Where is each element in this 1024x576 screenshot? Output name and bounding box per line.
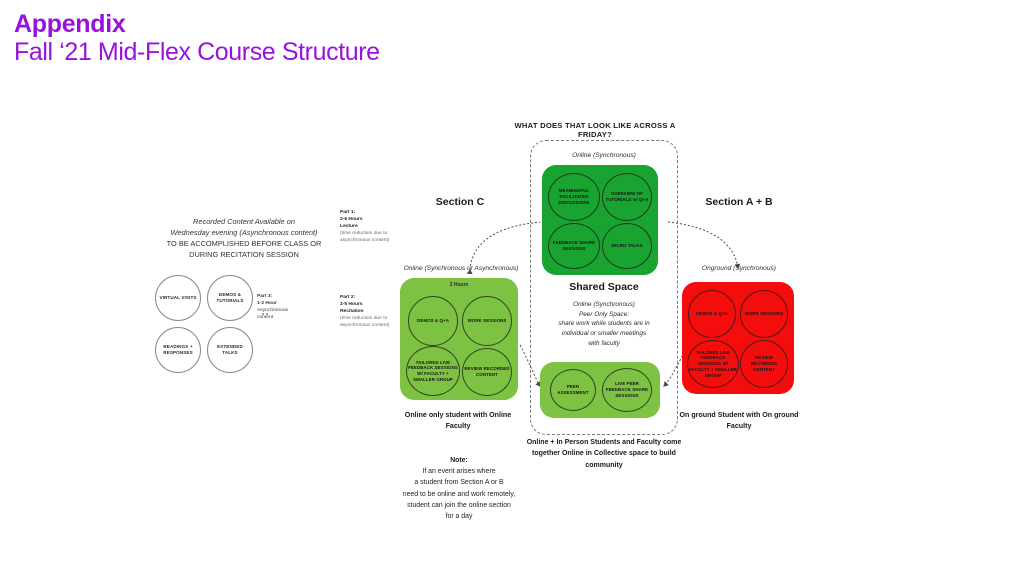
section-ab-caption: On ground Student with On ground Faculty [676, 410, 802, 432]
section-ab-box: DEMOS & Q+A WORK SESSIONS TAILORED LIVE … [682, 282, 794, 394]
shared-circle-peer-assessment: PEER ASSESSMENT [550, 369, 596, 411]
section-c-circle-demos-qa: DEMOS & Q+A [408, 296, 458, 346]
part-1-detail: (time reduction due to asynchronous cont… [340, 230, 390, 244]
section-c-circle-tailored-feedback: TAILORED LIVE FEEDBACK SESSIONS W/ FACUL… [406, 346, 460, 396]
slide-canvas: Appendix Fall ‘21 Mid-Flex Course Struct… [0, 0, 1024, 576]
note-line-5: for a day [446, 513, 473, 520]
shared-desc-line-3: share work while students are in [528, 319, 680, 329]
shared-space-description: Online (Synchronous) Peer Only Space: sh… [528, 300, 680, 349]
part-3-duration: 1-2 Hour [257, 301, 277, 306]
async-heading-line-1: Recorded Content Available on [148, 216, 340, 227]
note-line-1: If an event arises where [422, 468, 495, 475]
part-1-label: Part 1: [340, 209, 390, 216]
part-3-detail: Asynchronous content [257, 308, 288, 320]
section-ab-circle-work-sessions: WORK SESSIONS [740, 290, 788, 338]
title-main: Appendix [14, 10, 380, 38]
part-2-duration: 2-5 Hours [340, 301, 390, 308]
part-2-label: Part 2: [340, 294, 390, 301]
page-title: Appendix Fall ‘21 Mid-Flex Course Struct… [14, 10, 380, 68]
shared-space-title: Shared Space [530, 281, 678, 293]
note-line-2: a student from Section A or B [414, 479, 503, 486]
part-2-detail: (time reduction due to asynchronous cont… [340, 315, 390, 329]
section-ab-heading: Section A + B [678, 196, 800, 208]
section-ab-circle-review-content: REVIEW RECORDED CONTENT [740, 340, 788, 388]
async-heading-line-2: Wednesday evening (Asynchronous content) [148, 227, 340, 238]
part-2-block: Part 2: 2-5 Hours Recitation (time reduc… [340, 294, 390, 330]
note-line-4: student can join the online section [407, 502, 511, 509]
async-content-heading: Recorded Content Available on Wednesday … [148, 216, 340, 260]
part-2-kind: Recitation [340, 308, 390, 315]
section-c-circle-work-sessions: WORK SESSIONS [462, 296, 512, 346]
shared-circle-facilitated-discussions: MEANINGFUL FACILITATED DISCUSSIONS [548, 173, 600, 221]
part-1-kind: Lecture [340, 223, 390, 230]
part-3-note: Part 3: 1-2 Hour Asynchronous content [257, 293, 303, 321]
shared-space-caption: Online + In Person Students and Faculty … [518, 437, 690, 471]
section-c-heading: Section C [400, 196, 520, 208]
note-title: Note: [450, 457, 468, 464]
shared-desc-line-5: with faculty [528, 339, 680, 349]
section-c-mode-label: Online (Synchronous or Asynchronous) [390, 265, 532, 272]
shared-circle-feedback-share: FEEDBACK SHARE SESSIONS [548, 223, 600, 269]
note-line-3: need to be online and work remotely, [403, 491, 516, 498]
section-ab-circle-tailored-feedback: TAILORED LIVE FEEDBACK SESSIONS W/ FACUL… [687, 340, 739, 388]
async-circle-virtual-visits: VIRTUAL VISITS [155, 275, 201, 321]
part-3-label: Part 3: [257, 294, 272, 299]
section-ab-circle-demos-qa: DEMOS & Q+A [688, 290, 736, 338]
title-subtitle: Fall ‘21 Mid-Flex Course Structure [14, 38, 380, 68]
section-c-hours: 2 Hours [400, 282, 518, 288]
shared-desc-line-1: Online (Synchronous) [528, 300, 680, 310]
shared-space-bottom-box: PEER ASSESSMENT LIVE PEER FEEDBACK SHARE… [540, 362, 660, 418]
async-circle-readings-responses: READINGS + RESPONSES [155, 327, 201, 373]
async-circle-demos-tutorials: DEMOS & TUTORIALS [207, 275, 253, 321]
shared-space-top-box: MEANINGFUL FACILITATED DISCUSSIONS OVERV… [542, 165, 658, 275]
shared-circle-live-peer-feedback: LIVE PEER FEEDBACK SHARE SESSIONS [602, 368, 652, 412]
friday-question-header: WHAT DOES THAT LOOK LIKE ACROSS A FRIDAY… [500, 121, 690, 139]
async-circle-extended-talks: EXTENDED TALKS [207, 327, 253, 373]
part-1-block: Part 1: 2-5 Hours Lecture (time reductio… [340, 209, 390, 245]
part-1-duration: 2-5 Hours [340, 216, 390, 223]
section-c-box: 2 Hours DEMOS & Q+A WORK SESSIONS TAILOR… [400, 278, 518, 400]
shared-space-top-mode-label: Online (Synchronous) [534, 152, 674, 159]
shared-desc-line-4: individual or smaller meetings [528, 329, 680, 339]
shared-circle-micro-talks: MICRO TALKS [602, 223, 652, 269]
section-c-circle-review-content: REVIEW RECORDED CONTENT [462, 348, 512, 396]
async-activity-circles: VIRTUAL VISITS DEMOS & TUTORIALS READING… [155, 275, 259, 375]
async-heading-line-3: TO BE ACCOMPLISHED BEFORE CLASS OR [148, 238, 340, 249]
section-ab-mode-label: Onground (Synchronous) [672, 265, 806, 272]
async-heading-line-4: DURING RECITATION SESSION [148, 249, 340, 260]
shared-circle-tutorial-overview: OVERVIEW OF TUTORIALS w/ Q+A [602, 173, 652, 221]
shared-desc-line-2: Peer Only Space: [528, 310, 680, 320]
section-c-caption: Online only student with Online Faculty [396, 410, 520, 432]
